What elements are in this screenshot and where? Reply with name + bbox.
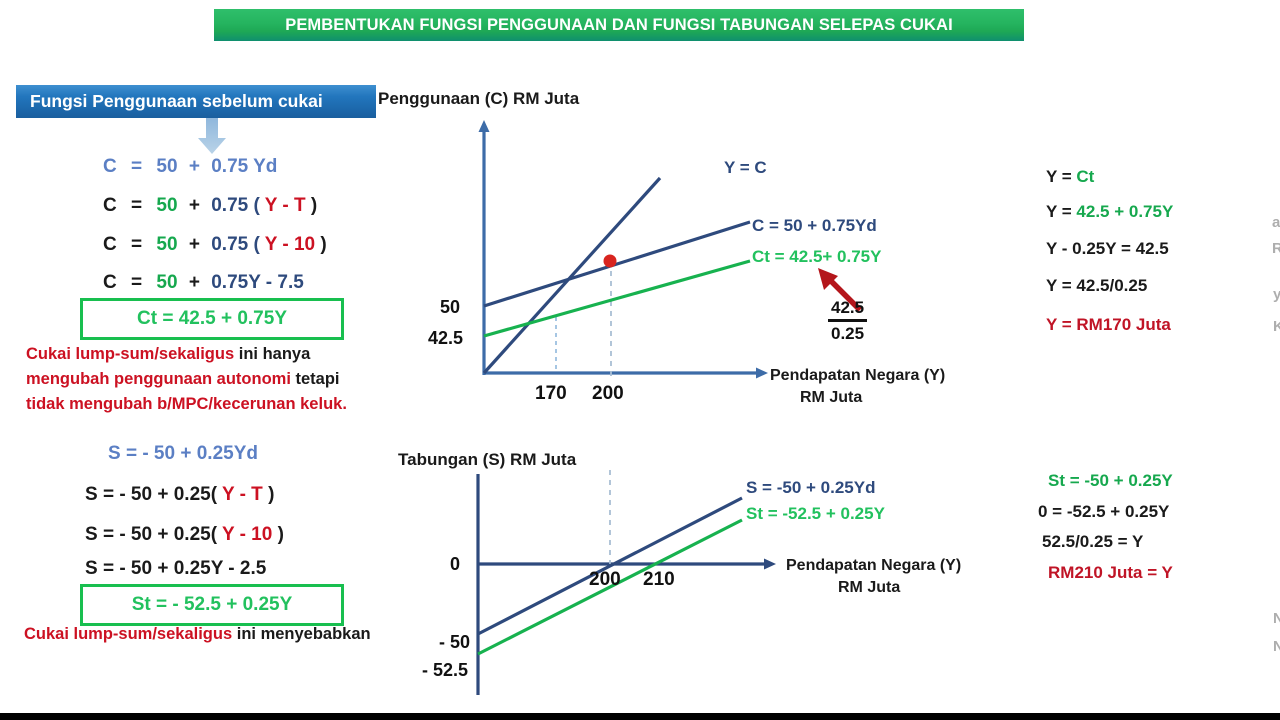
note2-red: mengubah penggunaan autonomi [26, 370, 291, 388]
chart2-ytick-0: 0 [450, 554, 460, 575]
edge-ghost-3: y [1273, 286, 1280, 303]
chart1-xtick-170: 170 [535, 383, 567, 405]
step3-b: 0.75 ( [211, 234, 260, 255]
chart2-y-axis-title: Tabungan (S) RM Juta [398, 450, 576, 470]
step3-paren: Y - 10 [265, 234, 315, 255]
left-panel-header: Fungsi Penggunaan sebelum cukai [16, 85, 376, 118]
chart1-label-y-equals-c: Y = C [724, 158, 767, 178]
fraction-annotation: 42.5 0.25 [828, 298, 867, 344]
consumption-result-box: Ct = 42.5 + 0.75Y [80, 298, 344, 340]
right-savings-line-3: 52.5/0.25 = Y [1042, 532, 1143, 552]
step2-a: 50 [156, 195, 177, 216]
step2-b: 0.75 ( [211, 195, 260, 216]
right-consumption-line-3: Y - 0.25Y = 42.5 [1046, 239, 1169, 259]
chart2-x-axis-unit: RM Juta [838, 579, 900, 597]
step4-lhs: C [103, 272, 117, 293]
savings-step-3: S = - 50 + 0.25( Y - 10 ) [85, 524, 284, 546]
consumption-step-2: C = 50 + 0.75 ( Y - T ) [103, 195, 317, 217]
step4-b: 0.75Y - 7.5 [211, 272, 304, 293]
consumption-step-3: C = 50 + 0.75 ( Y - 10 ) [103, 234, 327, 256]
edge-ghost-6: N [1273, 638, 1280, 655]
step2-plus: + [183, 195, 206, 216]
chart1-label-ct-after-tax: Ct = 42.5+ 0.75Y [752, 247, 881, 267]
rc2-a: Y = [1046, 202, 1076, 221]
note-consumption-line3: tidak mengubah b/MPC/kecerunan keluk. [26, 395, 347, 414]
step1-eq: = [122, 156, 151, 177]
step4-eq: = [122, 272, 151, 293]
chart2-x-axis-title: Pendapatan Negara (Y) [786, 557, 961, 575]
step2-close: ) [311, 195, 317, 216]
right-consumption-line-1: Y = Ct [1046, 167, 1094, 187]
chart1-ytick-50: 50 [440, 297, 460, 318]
step3-plus: + [183, 234, 206, 255]
savings-result-box: St = - 52.5 + 0.25Y [80, 584, 344, 626]
rc1-b: Ct [1076, 167, 1094, 186]
step1-a: 50 [156, 156, 177, 177]
fraction-numerator: 42.5 [828, 298, 867, 322]
step2-eq: = [122, 195, 151, 216]
note-savings-black: ini menyebabkan [232, 625, 370, 643]
chart1-x-axis-unit: RM Juta [800, 389, 862, 407]
consumption-step-4: C = 50 + 0.75Y - 7.5 [103, 272, 304, 294]
step3-eq: = [122, 234, 151, 255]
right-consumption-line-2: Y = 42.5 + 0.75Y [1046, 202, 1173, 222]
chart1-label-c-before-tax: C = 50 + 0.75Yd [752, 216, 877, 236]
s3-lhs: S = - 50 + 0.25( [85, 524, 217, 545]
note2-black: tetapi [291, 370, 340, 388]
fraction-denominator: 0.25 [828, 322, 867, 344]
s2-close: ) [268, 484, 274, 505]
top-white-bar [0, 0, 1280, 4]
chart2-xtick-210: 210 [643, 569, 675, 591]
right-savings-line-2: 0 = -52.5 + 0.25Y [1038, 502, 1169, 522]
step3-close: ) [320, 234, 326, 255]
step1-lhs: C [103, 156, 117, 177]
note-consumption-line2: mengubah penggunaan autonomi tetapi [26, 370, 340, 389]
right-consumption-line-5: Y = RM170 Juta [1046, 315, 1171, 335]
step4-plus: + [183, 272, 206, 293]
step3-a: 50 [156, 234, 177, 255]
chart1-y-axis-title: Penggunaan (C) RM Juta [378, 89, 579, 109]
edge-ghost-5: N [1273, 610, 1280, 627]
chart2-ytick-minus-50: - 50 [439, 632, 470, 653]
slide-title: PEMBENTUKAN FUNGSI PENGGUNAAN DAN FUNGSI… [214, 9, 1024, 41]
edge-ghost-1: an [1272, 214, 1280, 231]
right-consumption-line-4: Y = 42.5/0.25 [1046, 276, 1147, 296]
step3-lhs: C [103, 234, 117, 255]
note-savings-red: Cukai lump-sum/sekaligus [24, 625, 232, 643]
chart2-xtick-200: 200 [589, 569, 621, 591]
step2-paren: Y - T [265, 195, 306, 216]
chart2-label-st-after-tax: St = -52.5 + 0.25Y [746, 504, 885, 524]
down-arrow-icon [192, 118, 232, 158]
note1-red: Cukai lump-sum/sekaligus [26, 345, 234, 363]
right-savings-line-1: St = -50 + 0.25Y [1048, 471, 1173, 491]
s2-lhs: S = - 50 + 0.25( [85, 484, 217, 505]
step1-plus: + [183, 156, 206, 177]
chart2-label-s-before-tax: S = -50 + 0.25Yd [746, 478, 875, 498]
rc2-b: 42.5 + 0.75Y [1076, 202, 1173, 221]
consumption-step-1: C = 50 + 0.75 Yd [103, 156, 277, 178]
right-savings-line-4: RM210 Juta = Y [1048, 563, 1173, 583]
step1-b: 0.75 Yd [211, 156, 277, 177]
chart1-x-axis-title: Pendapatan Negara (Y) [770, 367, 945, 385]
s3-close: ) [278, 524, 284, 545]
note1-black: ini hanya [234, 345, 310, 363]
savings-step-4: S = - 50 + 0.25Y - 2.5 [85, 558, 266, 580]
note-consumption-line1: Cukai lump-sum/sekaligus ini hanya [26, 345, 310, 364]
step4-a: 50 [156, 272, 177, 293]
s2-paren: Y - T [222, 484, 263, 505]
chart1-xtick-200: 200 [592, 383, 624, 405]
s3-paren: Y - 10 [222, 524, 272, 545]
savings-step-1: S = - 50 + 0.25Yd [108, 443, 258, 465]
chart2-ytick-minus-52-5: - 52.5 [422, 660, 468, 681]
note-savings: Cukai lump-sum/sekaligus ini menyebabkan [24, 625, 371, 644]
edge-ghost-2: RM [1272, 240, 1280, 257]
edge-ghost-4: K [1273, 318, 1280, 335]
step2-lhs: C [103, 195, 117, 216]
chart1-ytick-42-5: 42.5 [428, 328, 463, 349]
bottom-black-bar [0, 713, 1280, 720]
rc1-a: Y = [1046, 167, 1076, 186]
savings-step-2: S = - 50 + 0.25( Y - T ) [85, 484, 274, 506]
